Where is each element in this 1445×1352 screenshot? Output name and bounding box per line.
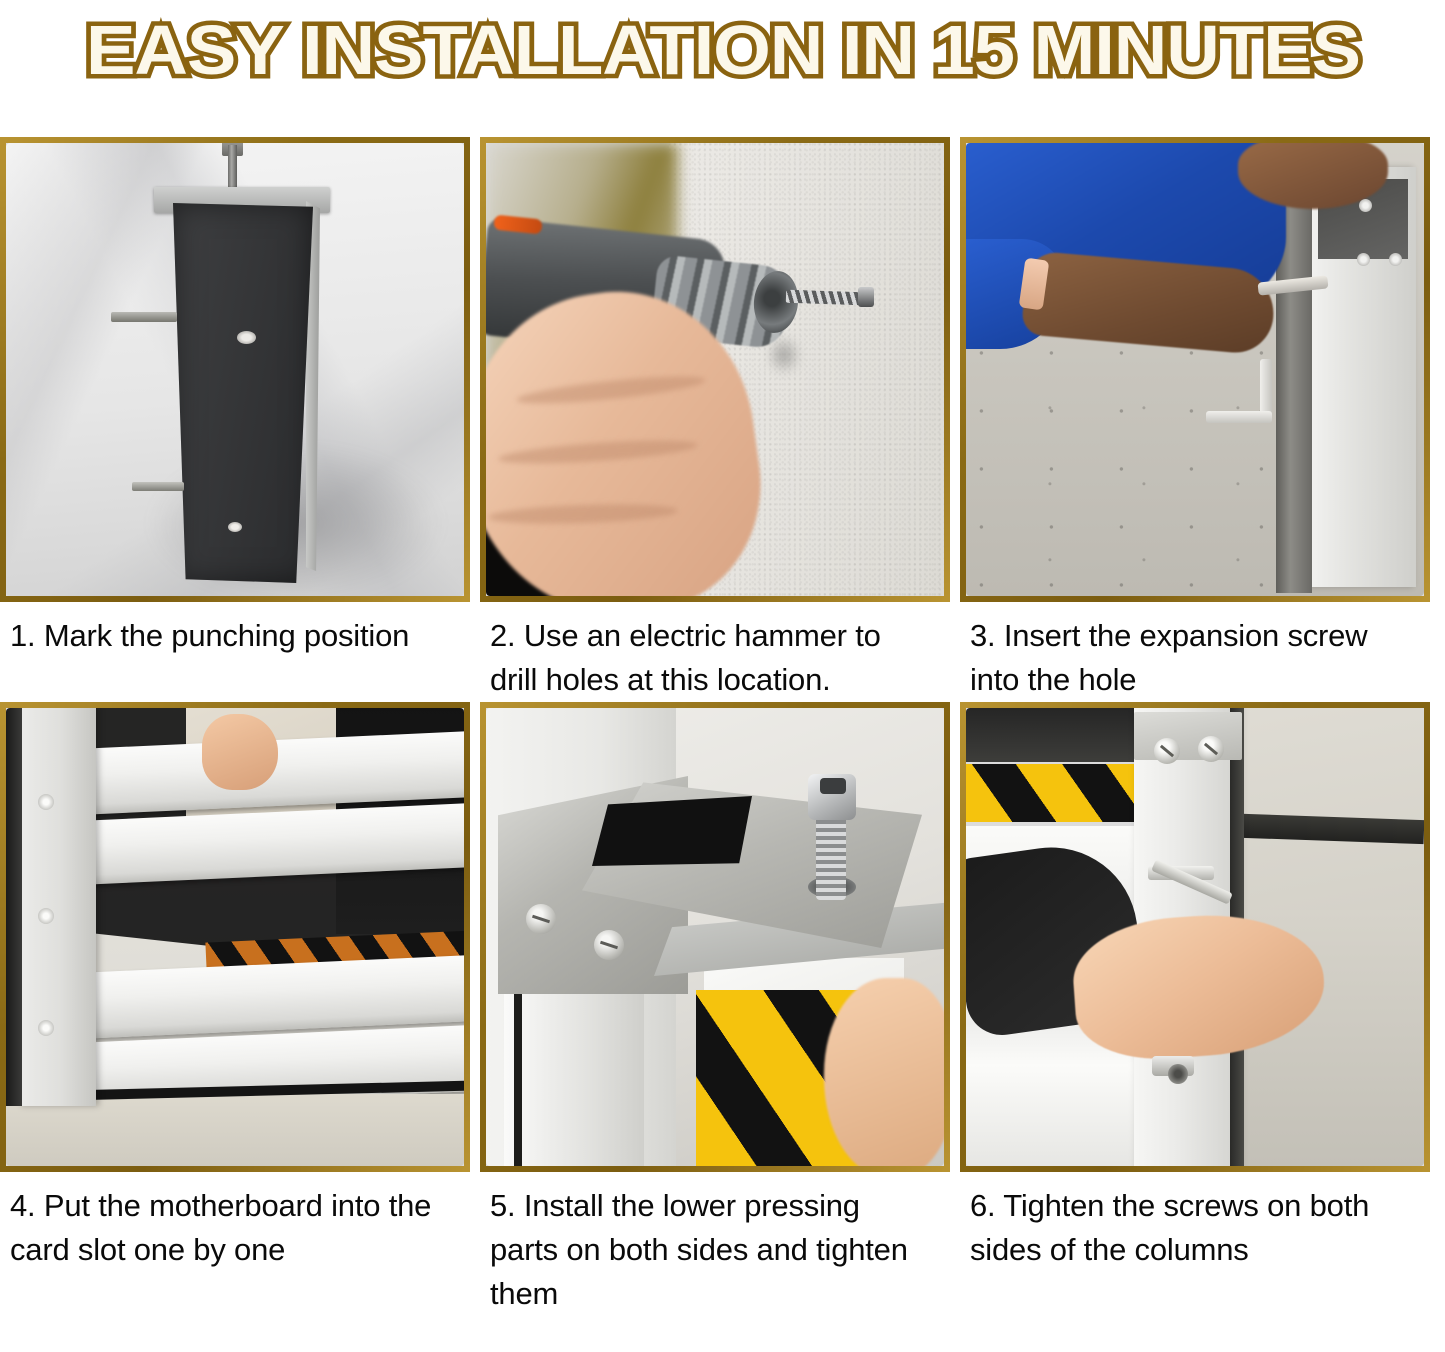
step-card-6: 6. Tighten the screws on both sides of t…	[960, 702, 1438, 1316]
steps-grid: 1. Mark the punching position	[0, 137, 1445, 1316]
step-6-photo-frame	[960, 702, 1430, 1172]
step-4-caption: 4. Put the motherboard into the card slo…	[0, 1172, 470, 1272]
step-3-photo-frame	[960, 137, 1430, 602]
step-3-caption: 3. Insert the expansion screw into the h…	[960, 602, 1428, 702]
step-5-caption: 5. Install the lower pressing parts on b…	[480, 1172, 950, 1316]
step-5-photo-frame	[480, 702, 950, 1172]
step-2-caption: 2. Use an electric hammer to drill holes…	[480, 602, 950, 702]
photo-mark-punching-position	[6, 143, 464, 596]
step-1-caption: 1. Mark the punching position	[0, 602, 470, 658]
step-4-photo-frame	[0, 702, 470, 1172]
step-1-photo-frame	[0, 137, 470, 602]
step-card-2: 2. Use an electric hammer to drill holes…	[480, 137, 960, 702]
screw-icon	[1198, 736, 1224, 762]
step-6-caption: 6. Tighten the screws on both sides of t…	[960, 1172, 1428, 1272]
installation-guide-page: EASY INSTALLATION IN 15 MINUTES	[0, 0, 1445, 1352]
page-title-banner: EASY INSTALLATION IN 15 MINUTES	[0, 0, 1445, 100]
step-card-1: 1. Mark the punching position	[0, 137, 480, 702]
photo-insert-boards-card-slot	[6, 708, 464, 1166]
photo-insert-expansion-screw	[966, 143, 1424, 596]
page-title: EASY INSTALLATION IN 15 MINUTES	[85, 12, 1359, 88]
photo-tighten-column-screws	[966, 708, 1424, 1166]
step-2-photo-frame	[480, 137, 950, 602]
bolt-icon	[816, 812, 846, 900]
photo-install-lower-pressing-parts	[486, 708, 944, 1166]
screw-icon	[1154, 738, 1180, 764]
hazard-stripe	[966, 764, 1142, 822]
step-card-4: 4. Put the motherboard into the card slo…	[0, 702, 480, 1316]
screw-icon	[526, 904, 556, 934]
step-card-3: 3. Insert the expansion screw into the h…	[960, 137, 1438, 702]
step-card-5: 5. Install the lower pressing parts on b…	[480, 702, 960, 1316]
screw-icon	[594, 930, 624, 960]
photo-drill-holes	[486, 143, 944, 596]
